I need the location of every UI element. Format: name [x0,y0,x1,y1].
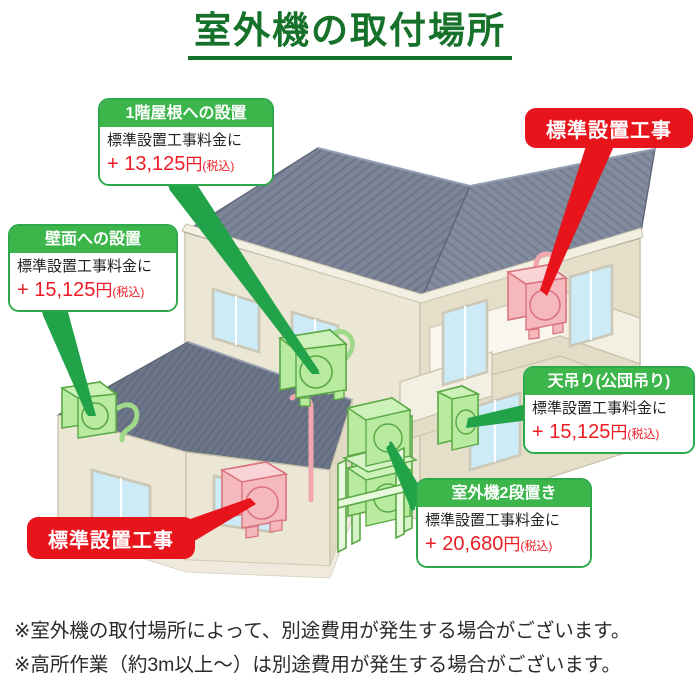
callout-wall-heading: 壁面への設置 [10,226,176,253]
callout-wall-price-prefix: + [17,279,29,301]
callout-stack-price-tax: (税込) [520,539,552,553]
callout-wall-installation[interactable]: 壁面への設置 標準設置工事料金に + 15,125円(税込) [8,224,178,312]
callout-ceiling-heading: 天吊り(公団吊り) [525,368,693,395]
callout-roof-price-tax: (税込) [202,159,234,173]
callout-roof-base-fee-label: 標準設置工事料金に [107,131,265,151]
infographic-canvas: 室外機の取付場所 [0,0,700,700]
callout-stack-heading: 室外機2段置き [418,480,590,507]
callout-ceiling-hung-installation[interactable]: 天吊り(公団吊り) 標準設置工事料金に + 15,125円(税込) [523,366,695,454]
callout-two-tier-installation[interactable]: 室外機2段置き 標準設置工事料金に + 20,680円(税込) [416,478,592,568]
callout-ceiling-price-amount: 15,125 [549,421,610,443]
callout-ceiling-price-prefix: + [532,421,544,443]
callout-wall-body: 標準設置工事料金に + 15,125円(税込) [10,253,176,310]
callout-wall-price: + 15,125円(税込) [17,278,169,304]
callout-wall-price-amount: 15,125 [34,279,95,301]
callout-stack-base-fee-label: 標準設置工事料金に [425,511,583,531]
callout-roof-price-prefix: + [107,153,119,175]
callout-roof-price: + 13,125円(税込) [107,152,265,178]
callout-ceiling-price: + 15,125円(税込) [532,420,686,446]
footer-note-2: ※高所作業（約3m以上〜）は別途費用が発生する場合がございます。 [14,648,690,682]
callout-roof-body: 標準設置工事料金に + 13,125円(税込) [100,127,272,184]
badge-standard-installation-bottom[interactable]: 標準設置工事 [27,517,195,559]
callout-ceiling-price-unit: 円 [610,423,627,442]
callout-roof-installation[interactable]: 1階屋根への設置 標準設置工事料金に + 13,125円(税込) [98,98,274,186]
callout-wall-price-tax: (税込) [112,285,144,299]
footer-notes: ※室外機の取付場所によって、別途費用が発生する場合がございます。 ※高所作業（約… [14,614,690,682]
callout-stack-price-amount: 20,680 [442,533,503,555]
callout-ceiling-base-fee-label: 標準設置工事料金に [532,399,686,419]
callout-stack-price-unit: 円 [503,535,520,554]
callout-wall-price-unit: 円 [95,281,112,300]
callout-wall-base-fee-label: 標準設置工事料金に [17,257,169,277]
callout-stack-price: + 20,680円(税込) [425,532,583,558]
callout-roof-heading: 1階屋根への設置 [100,100,272,127]
footer-note-1: ※室外機の取付場所によって、別途費用が発生する場合がございます。 [14,614,690,648]
callout-stack-body: 標準設置工事料金に + 20,680円(税込) [418,507,590,564]
callout-roof-price-unit: 円 [185,155,202,174]
callout-roof-price-amount: 13,125 [124,153,185,175]
callout-stack-price-prefix: + [425,533,437,555]
callout-ceiling-body: 標準設置工事料金に + 15,125円(税込) [525,395,693,452]
callout-ceiling-price-tax: (税込) [627,427,659,441]
badge-standard-installation-top[interactable]: 標準設置工事 [525,108,693,148]
